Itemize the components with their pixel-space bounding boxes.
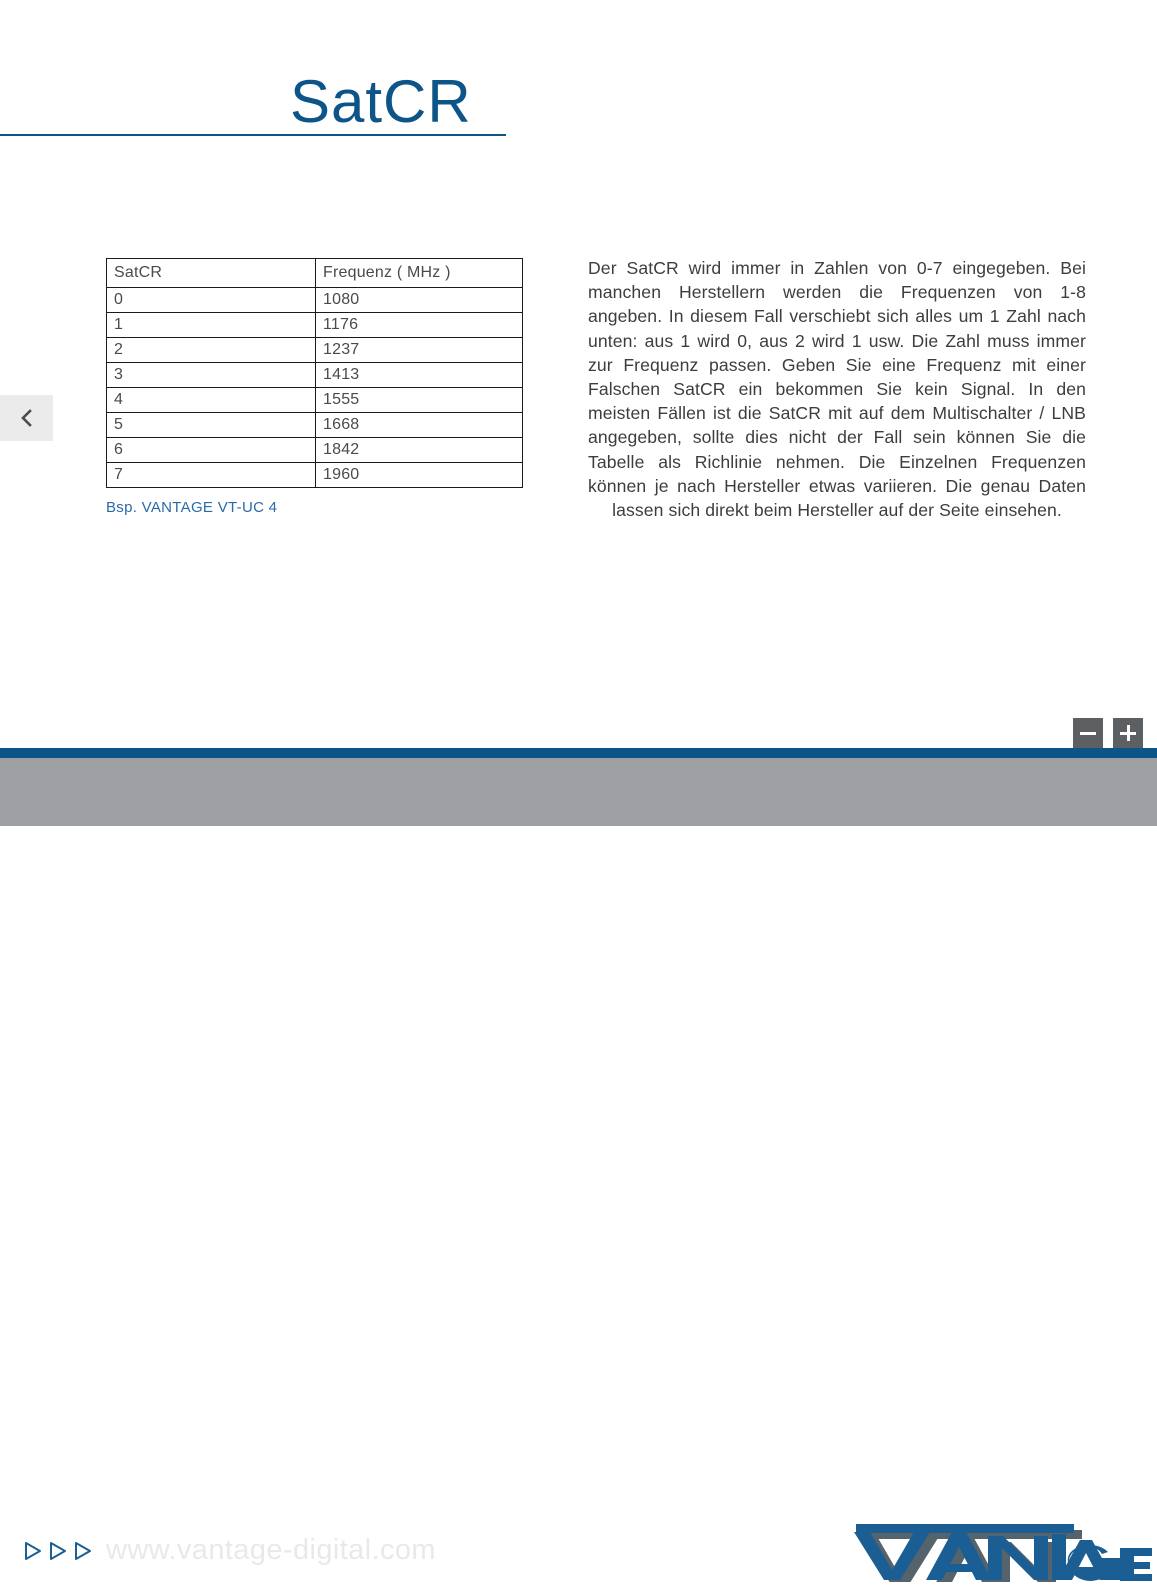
title-divider — [0, 134, 506, 136]
cell-satcr: 4 — [107, 388, 316, 413]
website-url-text: www.vantage-digital.com — [106, 1536, 436, 1565]
table-row: 5 1668 — [107, 413, 523, 438]
table-caption: Bsp. VANTAGE VT-UC 4 — [106, 499, 277, 516]
play-triangle-icon — [22, 1539, 44, 1563]
cell-satcr: 1 — [107, 313, 316, 338]
plus-icon-vertical — [1127, 725, 1130, 741]
footer: www.vantage-digital.com — [0, 758, 1157, 826]
cell-frequenz: 1960 — [316, 463, 523, 488]
body-paragraph: Der SatCR wird immer in Zahlen von 0-7 e… — [588, 256, 1086, 522]
cell-satcr: 0 — [107, 288, 316, 313]
column-header-satcr: SatCR — [107, 259, 316, 288]
zoom-out-button[interactable] — [1073, 718, 1103, 748]
play-triangle-icon — [72, 1539, 94, 1563]
zoom-controls — [1073, 718, 1143, 748]
table-row: 1 1176 — [107, 313, 523, 338]
chevron-left-icon — [21, 409, 33, 427]
cell-satcr: 2 — [107, 338, 316, 363]
vantage-logo — [852, 1520, 1152, 1582]
page-title: SatCR — [290, 72, 472, 132]
table-row: 2 1237 — [107, 338, 523, 363]
zoom-in-button[interactable] — [1113, 718, 1143, 748]
table-body: 0 1080 1 1176 2 1237 3 1413 4 1555 5 166… — [107, 288, 523, 488]
cell-satcr: 6 — [107, 438, 316, 463]
cell-satcr: 5 — [107, 413, 316, 438]
cell-frequenz: 1555 — [316, 388, 523, 413]
table-row: 6 1842 — [107, 438, 523, 463]
table-row: 4 1555 — [107, 388, 523, 413]
cell-satcr: 7 — [107, 463, 316, 488]
cell-frequenz: 1413 — [316, 363, 523, 388]
cell-satcr: 3 — [107, 363, 316, 388]
table-row: 3 1413 — [107, 363, 523, 388]
table-row: 0 1080 — [107, 288, 523, 313]
satcr-frequency-table: SatCR Frequenz ( MHz ) 0 1080 1 1176 2 1… — [106, 258, 523, 488]
cell-frequenz: 1842 — [316, 438, 523, 463]
cell-frequenz: 1080 — [316, 288, 523, 313]
footer-accent-bar — [0, 748, 1157, 758]
play-triangle-icon — [47, 1539, 69, 1563]
minus-icon — [1080, 732, 1096, 735]
cell-frequenz: 1668 — [316, 413, 523, 438]
table-header-row: SatCR Frequenz ( MHz ) — [107, 259, 523, 288]
cell-frequenz: 1176 — [316, 313, 523, 338]
table-row: 7 1960 — [107, 463, 523, 488]
previous-page-button[interactable] — [0, 395, 53, 441]
website-link[interactable]: www.vantage-digital.com — [22, 1536, 436, 1565]
column-header-frequenz: Frequenz ( MHz ) — [316, 259, 523, 288]
cell-frequenz: 1237 — [316, 338, 523, 363]
